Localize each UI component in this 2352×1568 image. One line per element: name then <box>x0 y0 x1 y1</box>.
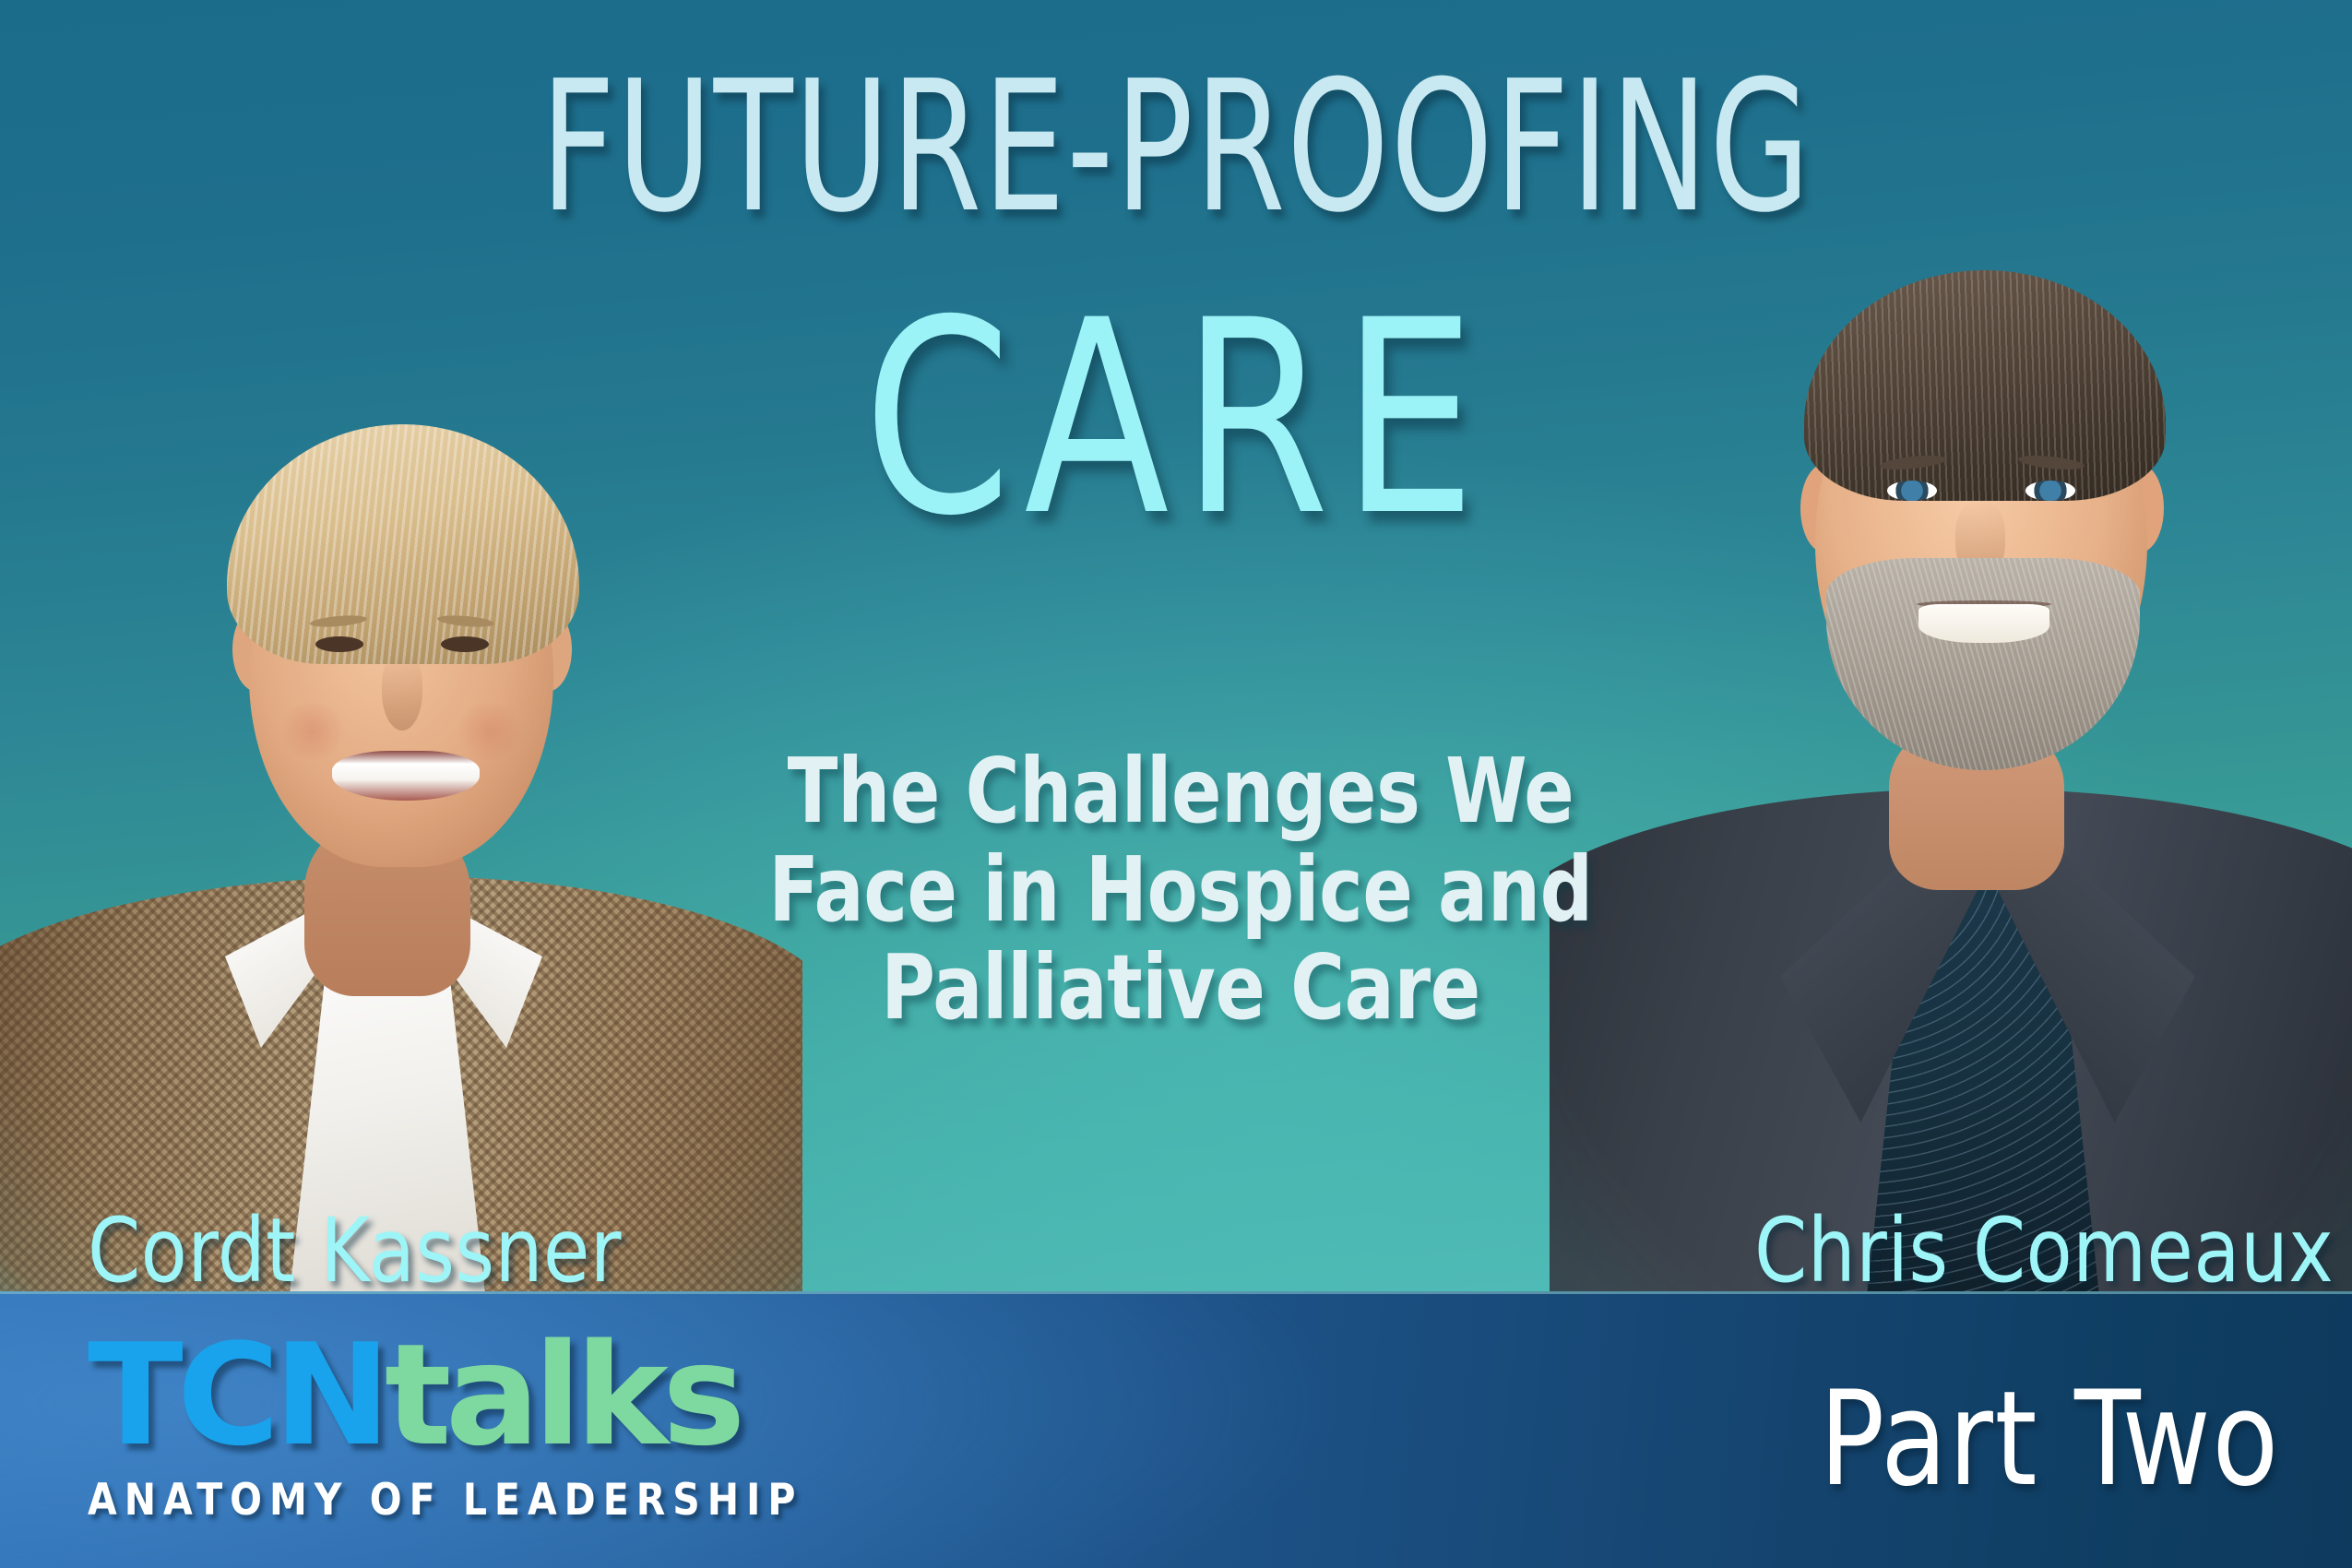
cheek-right-shape <box>454 703 526 760</box>
tcntalks-logo: TCNtalks ANATOMY OF LEADERSHIP <box>88 1325 844 1547</box>
title-line-primary: FUTURE-PROOFING <box>235 57 2117 238</box>
nose-shape <box>382 653 422 731</box>
logo-tagline: ANATOMY OF LEADERSHIP <box>88 1475 821 1526</box>
teeth-shape <box>1918 604 2049 643</box>
title-line-accent: CARE <box>141 286 2211 553</box>
episode-part-label: Part Two <box>1820 1363 2280 1515</box>
subtitle-line-1: The Challenges We <box>552 742 1809 841</box>
eye-left-shape <box>315 636 363 652</box>
subtitle-line-2: Face in Hospice and <box>552 841 1809 940</box>
logo-word-talks: talks <box>385 1313 740 1477</box>
subtitle-line-3: Palliative Care <box>552 939 1809 1038</box>
logo-wordmark: TCNtalks <box>88 1325 844 1466</box>
episode-subtitle: The Challenges We Face in Hospice and Pa… <box>552 742 1809 1038</box>
guest-name-right: Chris Comeaux <box>1754 1199 2334 1302</box>
eye-right-shape <box>441 636 489 652</box>
cheek-left-shape <box>277 703 349 760</box>
beard-shape <box>1826 558 2140 770</box>
episode-cover-artwork: FUTURE-PROOFING CARE The Challenges We F… <box>0 0 2352 1568</box>
guest-name-left: Cordt Kassner <box>88 1199 622 1302</box>
mouth-shape <box>332 751 480 801</box>
logo-word-tcn: TCN <box>88 1313 385 1477</box>
